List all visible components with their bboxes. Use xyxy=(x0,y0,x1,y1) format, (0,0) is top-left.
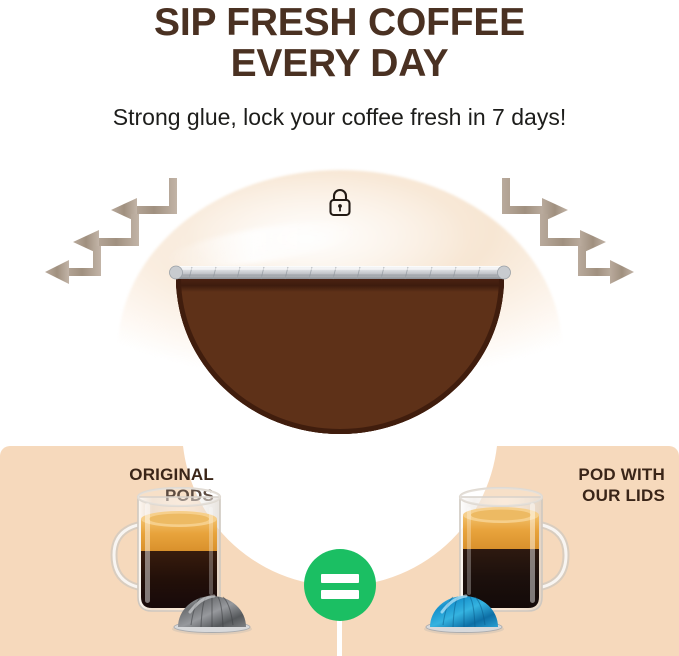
subtitle: Strong glue, lock your coffee fresh in 7… xyxy=(0,103,679,131)
equals-badge xyxy=(304,549,376,621)
pod-body xyxy=(176,278,504,434)
coffee-beans-fill xyxy=(176,278,504,434)
promo-image: SIP FRESH COFFEE EVERY DAY Strong glue, … xyxy=(0,0,679,656)
blue-coffee-capsule xyxy=(420,584,508,636)
lock-icon xyxy=(325,186,355,220)
silver-coffee-capsule xyxy=(168,584,256,636)
page-title: SIP FRESH COFFEE EVERY DAY xyxy=(0,2,679,84)
headline-line-1: SIP FRESH COFFEE xyxy=(0,2,679,43)
hero-stage xyxy=(0,150,679,450)
header-section: SIP FRESH COFFEE EVERY DAY Strong glue, … xyxy=(0,0,679,150)
foil-seal-lid-icon xyxy=(168,262,512,284)
equals-icon-bar-top xyxy=(321,574,359,583)
coffee-pod-cutaway-with-beans xyxy=(168,262,512,438)
headline-line-2: EVERY DAY xyxy=(0,43,679,84)
equals-icon-bar-bottom xyxy=(321,590,359,599)
